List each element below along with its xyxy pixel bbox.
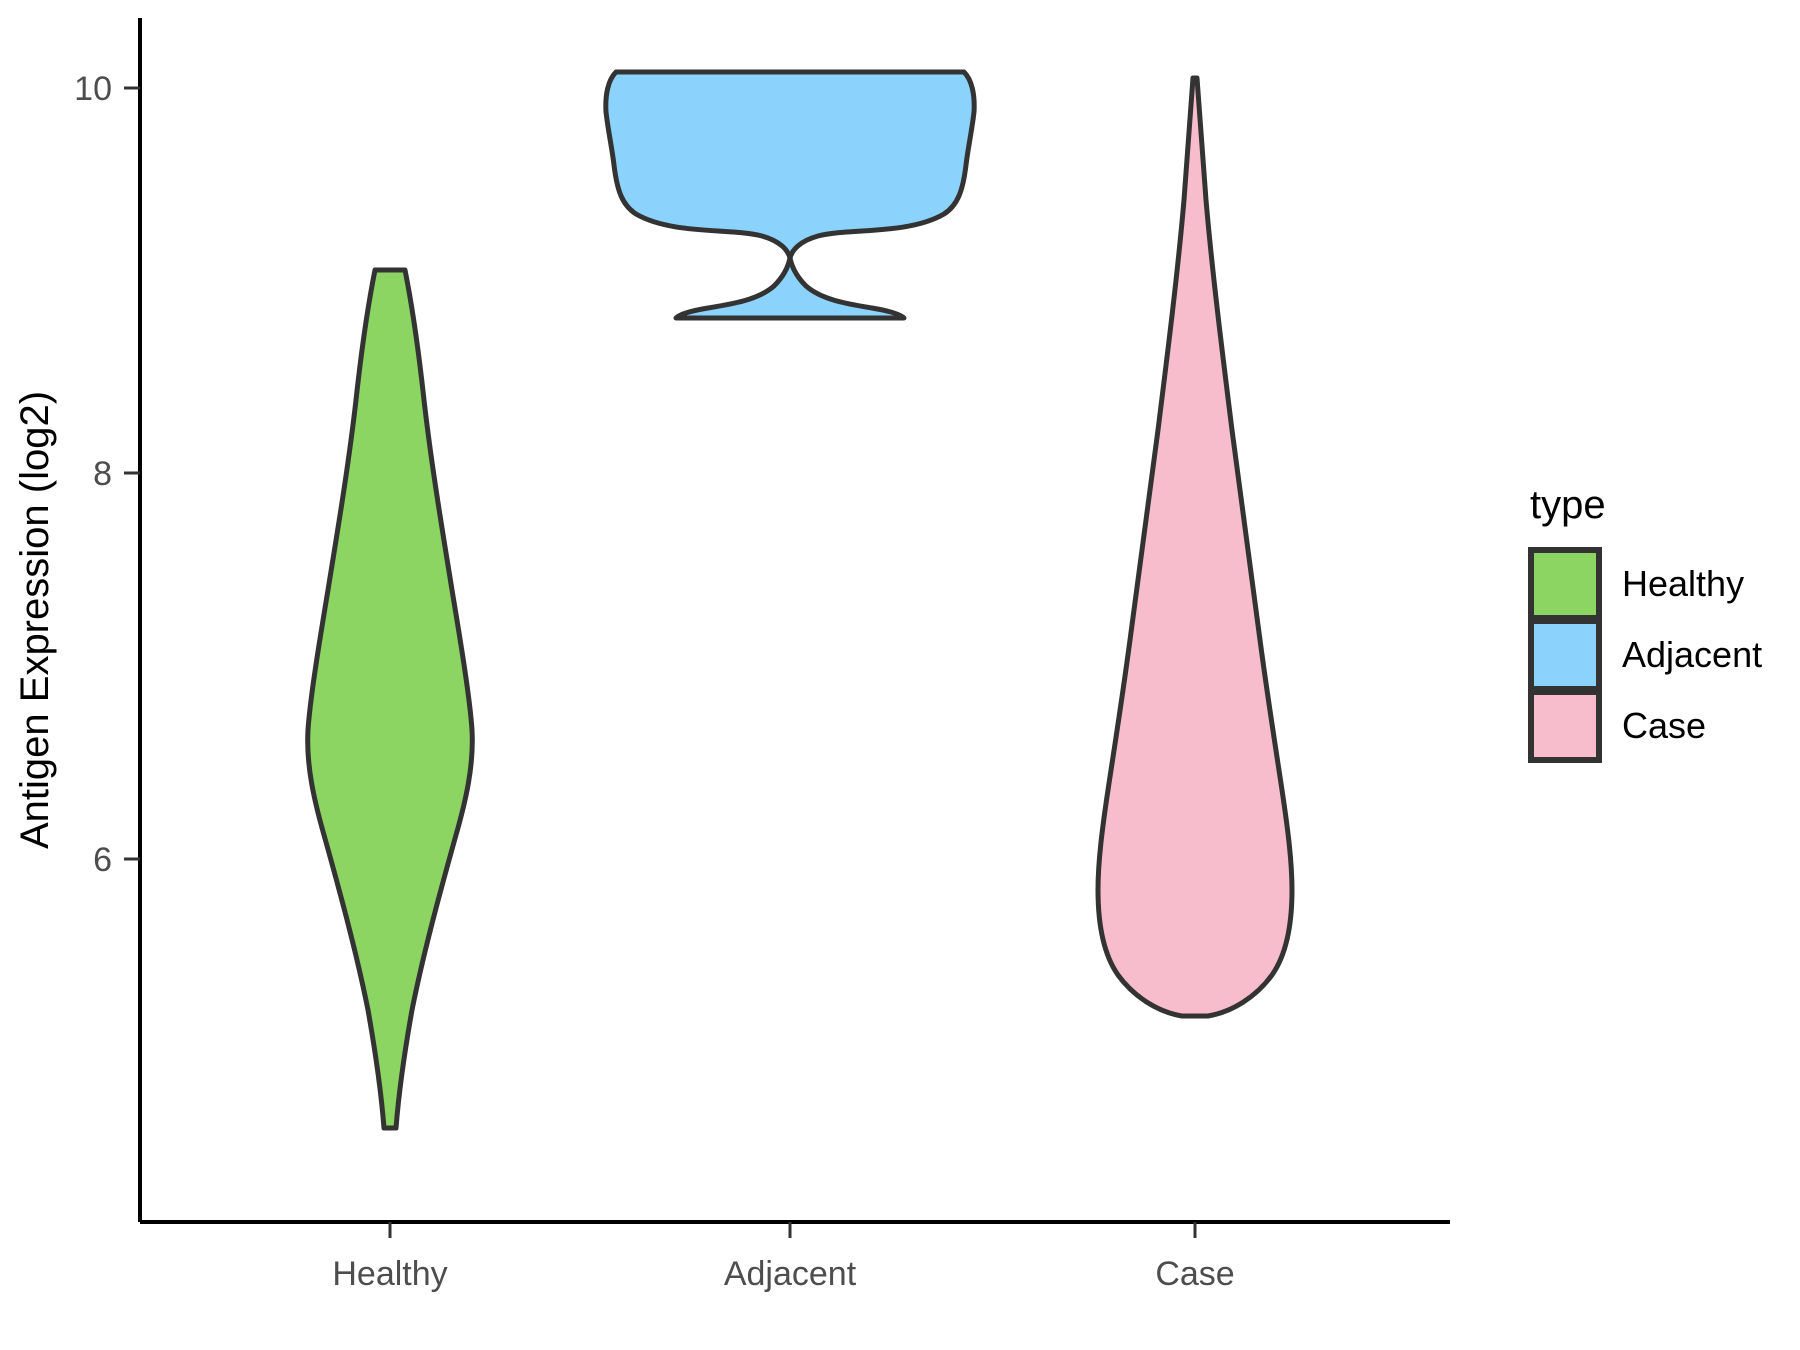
- x-tick-label-case: Case: [1155, 1255, 1234, 1293]
- legend-title: type: [1530, 483, 1606, 527]
- legend-label-adjacent: Adjacent: [1622, 634, 1762, 675]
- x-tick-label-healthy: Healthy: [332, 1255, 447, 1293]
- legend-label-case: Case: [1622, 705, 1706, 746]
- y-tick-label-6: 6: [93, 841, 112, 879]
- violin-plot-figure: 10 8 6 Antigen Expression (log2) Healthy…: [0, 0, 1800, 1350]
- y-tick-label-8: 8: [93, 455, 112, 493]
- legend-label-healthy: Healthy: [1622, 563, 1744, 604]
- legend-swatch-case: [1531, 692, 1599, 760]
- y-axis-title: Antigen Expression (log2): [13, 391, 57, 849]
- legend-swatch-healthy: [1531, 550, 1599, 618]
- y-tick-label-10: 10: [74, 70, 112, 108]
- legend-swatch-adjacent: [1531, 621, 1599, 689]
- x-tick-label-adjacent: Adjacent: [724, 1255, 857, 1293]
- plot-svg: 10 8 6 Antigen Expression (log2) Healthy…: [0, 0, 1800, 1350]
